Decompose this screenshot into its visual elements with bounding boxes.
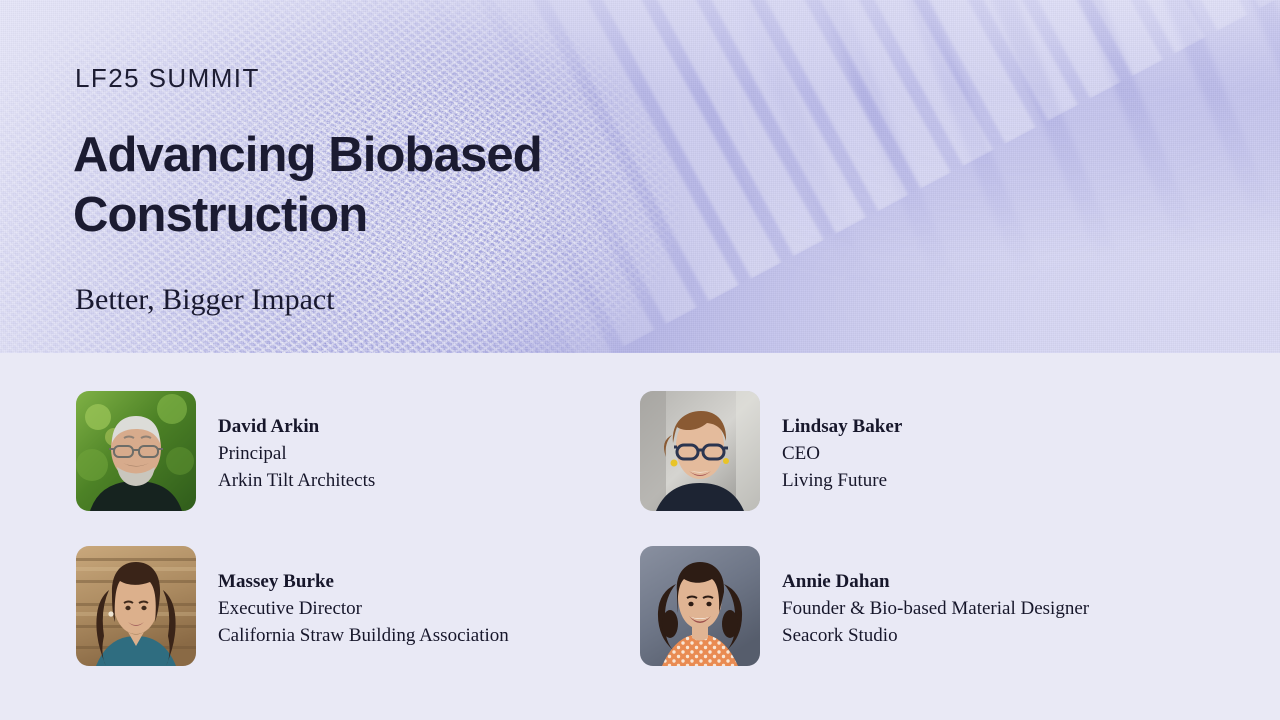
speaker-organization: California Straw Building Association <box>218 622 509 649</box>
page-title-line-1: Advancing Biobased <box>73 126 542 186</box>
speaker-card-massey-burke: Massey Burke Executive Director Californ… <box>76 546 640 701</box>
speaker-photo-massey-burke <box>76 546 196 666</box>
speaker-name: David Arkin <box>218 413 375 440</box>
speaker-role: Executive Director <box>218 595 509 622</box>
speaker-role: Founder & Bio-based Material Designer <box>782 595 1089 622</box>
speaker-organization: Arkin Tilt Architects <box>218 467 375 494</box>
speaker-info: Lindsay Baker CEO Living Future <box>782 391 902 494</box>
speaker-name: Lindsay Baker <box>782 413 902 440</box>
speaker-card-david-arkin: David Arkin Principal Arkin Tilt Archite… <box>76 391 640 546</box>
page-title-line-2: Construction <box>73 186 542 246</box>
speaker-photo-annie-dahan <box>640 546 760 666</box>
speaker-role: CEO <box>782 440 902 467</box>
speaker-organization: Living Future <box>782 467 902 494</box>
speaker-card-annie-dahan: Annie Dahan Founder & Bio-based Material… <box>640 546 1256 701</box>
speaker-info: Massey Burke Executive Director Californ… <box>218 546 509 649</box>
speaker-grid: David Arkin Principal Arkin Tilt Archite… <box>0 391 1280 701</box>
speaker-photo-david-arkin <box>76 391 196 511</box>
event-eyebrow: LF25 SUMMIT <box>75 63 260 94</box>
page-title: Advancing Biobased Construction <box>73 126 542 246</box>
speaker-name: Annie Dahan <box>782 568 1089 595</box>
slide-banner: LF25 SUMMIT Advancing Biobased Construct… <box>0 0 1280 353</box>
speaker-info: David Arkin Principal Arkin Tilt Archite… <box>218 391 375 494</box>
speaker-name: Massey Burke <box>218 568 509 595</box>
speaker-organization: Seacork Studio <box>782 622 1089 649</box>
speaker-info: Annie Dahan Founder & Bio-based Material… <box>782 546 1089 649</box>
speaker-photo-lindsay-baker <box>640 391 760 511</box>
speaker-card-lindsay-baker: Lindsay Baker CEO Living Future <box>640 391 1256 546</box>
speakers-section: David Arkin Principal Arkin Tilt Archite… <box>0 353 1280 720</box>
page-subtitle: Better, Bigger Impact <box>75 283 335 317</box>
speaker-role: Principal <box>218 440 375 467</box>
presentation-slide: LF25 SUMMIT Advancing Biobased Construct… <box>0 0 1280 720</box>
